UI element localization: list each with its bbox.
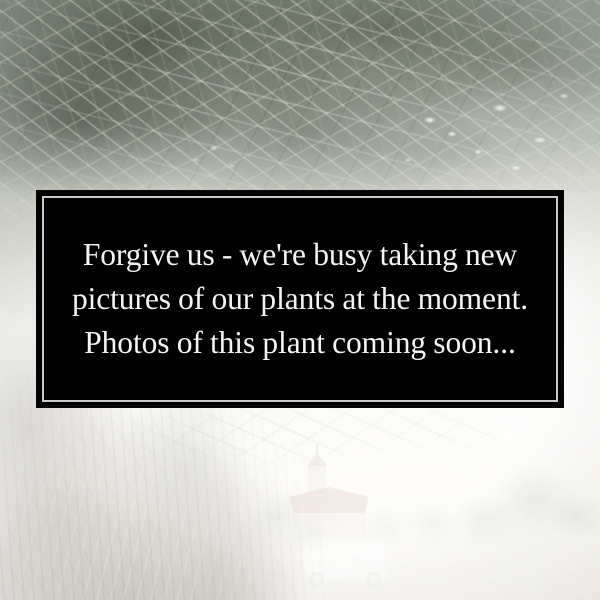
placeholder-image: Forgive us - we're busy taking new pictu… <box>0 0 600 600</box>
plaza-ground-layer <box>0 540 600 600</box>
vehicle-roof-rack <box>321 536 385 539</box>
placeholder-notice-panel: Forgive us - we're busy taking new pictu… <box>36 190 564 408</box>
notice-message: Forgive us - we're busy taking new pictu… <box>48 233 552 365</box>
vehicle-rear-wheel <box>309 572 324 587</box>
vehicle-front-wheel <box>366 572 381 587</box>
